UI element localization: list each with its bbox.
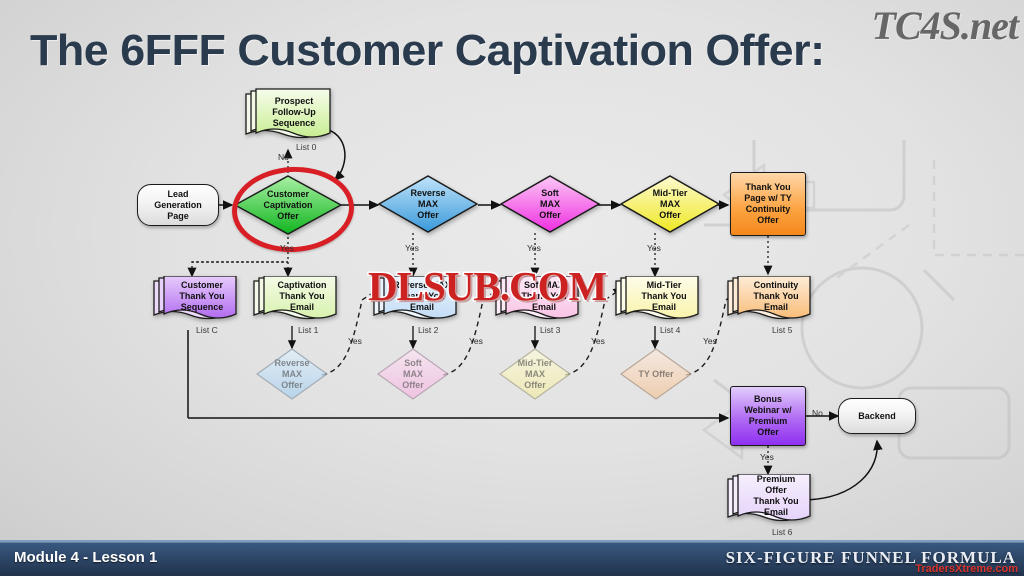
node-label: Reverse MAX Offer — [256, 348, 328, 400]
node-label: Mid-Tier MAX Offer — [620, 175, 720, 233]
node-reverse-max-offer[interactable]: Reverse MAX Offer — [378, 175, 478, 233]
list-label-3: List 3 — [540, 325, 560, 335]
edge-label-yes-soft: Yes — [527, 243, 541, 253]
list-label-2: List 2 — [418, 325, 438, 335]
node-label: Customer Thank You Sequence — [166, 274, 238, 318]
edge-label-no-prospect: No — [278, 152, 289, 162]
footer-bar: Module 4 - Lesson 1 SIX-FIGURE FUNNEL FO… — [0, 540, 1024, 576]
node-ty-offer-ghost[interactable]: TY Offer — [620, 348, 692, 400]
node-soft-max-offer-ghost[interactable]: Soft MAX Offer — [377, 348, 449, 400]
node-reverse-max-offer-ghost[interactable]: Reverse MAX Offer — [256, 348, 328, 400]
edge-label-no-bonus: No — [812, 408, 823, 418]
node-label: Bonus Webinar w/ Premium Offer — [731, 387, 805, 445]
node-lead-generation-page[interactable]: Lead Generation Page — [137, 184, 219, 226]
node-bonus-webinar[interactable]: Bonus Webinar w/ Premium Offer — [730, 386, 806, 446]
list-label-4: List 4 — [660, 325, 680, 335]
edge-label-yes-reverse: Yes — [405, 243, 419, 253]
edge-label-yes-r2: Yes — [348, 336, 362, 346]
node-label: Premium Offer Thank You Email — [740, 472, 812, 520]
node-label: Captivation Thank You Email — [266, 274, 338, 318]
node-label: Backend — [839, 399, 915, 433]
node-thank-you-page[interactable]: Thank You Page w/ TY Continuity Offer — [730, 172, 806, 236]
node-soft-max-offer[interactable]: Soft MAX Offer — [500, 175, 600, 233]
node-label: Continuity Thank You Email — [740, 274, 812, 318]
list-label-prospect: List 0 — [296, 142, 316, 152]
node-soft-thank-you-email[interactable]: Soft MAX Thank You Email — [494, 276, 586, 330]
edge-label-yes-midtier: Yes — [647, 243, 661, 253]
page-title: The 6FFF Customer Captivation Offer: — [30, 26, 825, 76]
node-mid-tier-max-offer[interactable]: Mid-Tier MAX Offer — [620, 175, 720, 233]
edge-label-yes-bonus: Yes — [760, 452, 774, 462]
node-label: Mid-Tier MAX Offer — [499, 348, 571, 400]
node-label: Reverse MAX Offer — [378, 175, 478, 233]
node-label: Lead Generation Page — [138, 185, 218, 225]
slide-canvas: The 6FFF Customer Captivation Offer: — [0, 0, 1024, 576]
node-label: TY Offer — [620, 348, 692, 400]
edge-label-yes-captivation: Yes — [280, 243, 294, 253]
node-label: Mid-Tier Thank You Email — [628, 274, 700, 318]
node-mid-tier-thank-you-email[interactable]: Mid-Tier Thank You Email — [614, 276, 706, 330]
node-premium-offer-thank-you-email[interactable]: Premium Offer Thank You Email — [726, 474, 818, 532]
list-label-5: List 5 — [772, 325, 792, 335]
node-backend[interactable]: Backend — [838, 398, 916, 434]
watermark-tc4s: TC4S.net — [872, 2, 1018, 49]
node-label: Soft MAX Offer — [377, 348, 449, 400]
node-customer-thank-you-sequence[interactable]: Customer Thank You Sequence — [152, 276, 244, 330]
edge-label-yes-t2: Yes — [703, 336, 717, 346]
node-label: Soft MAX Thank You Email — [508, 274, 580, 318]
list-label-1: List 1 — [298, 325, 318, 335]
node-mid-tier-max-offer-ghost[interactable]: Mid-Tier MAX Offer — [499, 348, 571, 400]
node-continuity-thank-you-email[interactable]: Continuity Thank You Email — [726, 276, 818, 330]
edge-label-yes-s2: Yes — [469, 336, 483, 346]
node-label: Prospect Follow-Up Sequence — [258, 86, 330, 138]
edge-label-yes-m2: Yes — [591, 336, 605, 346]
node-label: Thank You Page w/ TY Continuity Offer — [731, 173, 805, 235]
node-captivation-thank-you-email[interactable]: Captivation Thank You Email — [252, 276, 344, 330]
node-label: Soft MAX Offer — [500, 175, 600, 233]
list-label-c: List C — [196, 325, 218, 335]
footer-module-lesson: Module 4 - Lesson 1 — [14, 549, 157, 566]
footer-brand: SIX-FIGURE FUNNEL FORMULA — [726, 548, 1016, 568]
node-label: Reverse MAX Thank You Email — [386, 274, 458, 318]
node-prospect-follow-up-sequence[interactable]: Prospect Follow-Up Sequence — [244, 88, 336, 150]
node-reverse-thank-you-email[interactable]: Reverse MAX Thank You Email — [372, 276, 464, 330]
list-label-6: List 6 — [772, 527, 792, 537]
